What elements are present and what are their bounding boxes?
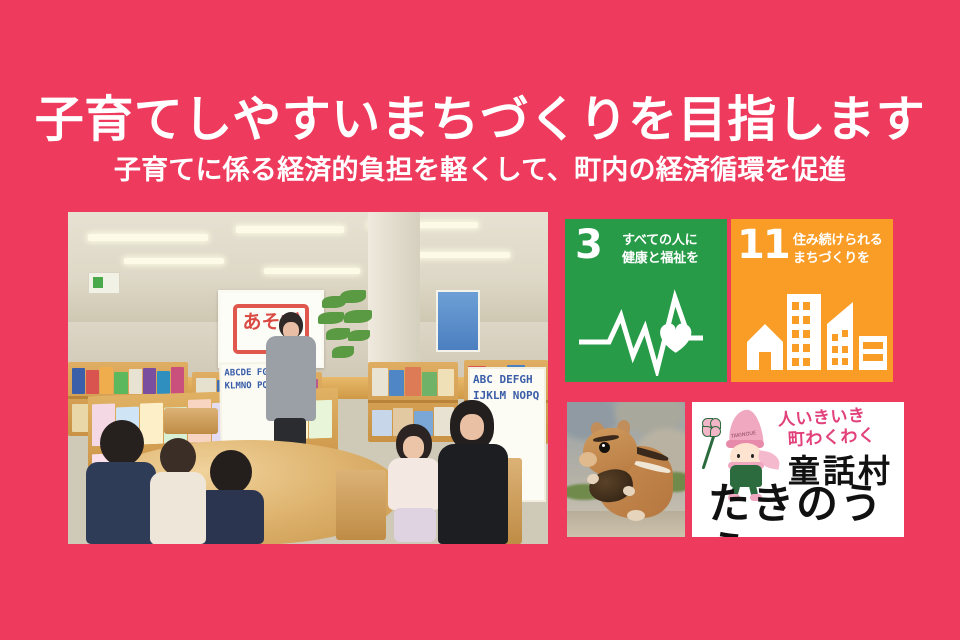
ceiling-lamp <box>236 226 344 233</box>
sdg-3-label-line2: 健康と福祉を <box>622 249 723 267</box>
sdg-3-label-line1: すべての人に <box>622 231 723 249</box>
ceiling-lamp <box>264 268 360 274</box>
heartbeat-icon <box>565 280 727 376</box>
sdg-11-label: 住み続けられる まちづくりを <box>793 231 889 267</box>
cherry-blossom-icon <box>702 418 722 438</box>
chair <box>164 408 218 434</box>
library-photo: あそび <box>68 212 548 544</box>
wall-poster <box>436 290 480 352</box>
logo-name-text: たきのうえ <box>708 480 904 537</box>
child-seated <box>150 438 206 544</box>
ceiling-lamp <box>414 252 510 258</box>
adult-seated <box>436 400 514 544</box>
slide-root: 子育てしやすいまちづくりを目指します 子育てに係る経済的負担を軽くして、町内の経… <box>0 0 960 640</box>
exit-sign-icon <box>88 272 120 294</box>
page-title: 子育てしやすいまちづくりを目指します <box>0 95 960 146</box>
potted-plant <box>316 290 376 370</box>
chipmunk-photo <box>567 402 685 537</box>
sdg-11-label-line2: まちづくりを <box>793 249 889 267</box>
sdg-goal-11: 11 住み続けられる まちづくりを <box>731 219 893 382</box>
abc-poster-text: ABC DEFGH IJKLM NOPQ <box>473 373 539 402</box>
sdg-3-label: すべての人に 健康と福祉を <box>622 231 723 267</box>
chipmunk-eye <box>599 442 610 453</box>
cityscape-icon <box>731 280 893 376</box>
fairy-mascot-icon: TAKINOUE <box>706 410 786 490</box>
sdg-11-label-line1: 住み続けられる <box>793 231 889 249</box>
chair <box>336 470 386 540</box>
sdg-3-number: 3 <box>575 224 603 266</box>
takinoue-logo: TAKINOUE 人いきいき 町わくわく 童話村 たきのうえ <box>692 402 904 537</box>
ceiling-lamp <box>88 234 208 241</box>
ceiling-lamp <box>124 258 224 264</box>
sdg-11-number: 11 <box>737 224 789 266</box>
child-seated <box>86 420 158 544</box>
page-subtitle: 子育てに係る経済的負担を軽くして、町内の経済循環を促進 <box>0 155 960 186</box>
adult-standing <box>264 312 318 462</box>
sdg-goal-3: 3 すべての人に 健康と福祉を <box>565 219 727 382</box>
